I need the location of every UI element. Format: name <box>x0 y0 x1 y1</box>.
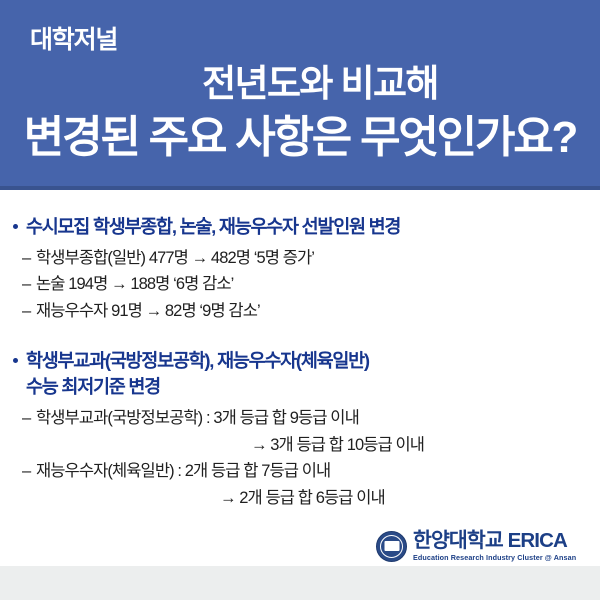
university-tagline: Education Research Industry Cluster @ An… <box>413 553 584 562</box>
list-item-text: 학생부종합(일반) 477명 → 482명 ‘5명 증가’ <box>36 249 314 267</box>
list-item: – 학생부종합(일반) 477명 → 482명 ‘5명 증가’ <box>0 245 600 272</box>
university-logo-text: 한양대학교 ERICA Education Research Industry … <box>413 530 584 563</box>
content-area: 수시모집 학생부종합, 논술, 재능우수자 선발인원 변경 – 학생부종합(일반… <box>0 190 600 566</box>
list-item-text: 논술 194명 → 188명 ‘6명 감소’ <box>36 275 233 293</box>
emblem-inner-shield-icon <box>384 541 399 551</box>
list-item: – 학생부교과(국방정보공학) : 3개 등급 합 9등급 이내 <box>0 405 600 432</box>
section-2-heading: 학생부교과(국방정보공학), 재능우수자(체육일반) <box>0 348 600 374</box>
list-item-continuation: → 3개 등급 합 10등급 이내 <box>0 432 600 459</box>
section-1-heading-text: 수시모집 학생부종합, 논술, 재능우수자 선발인원 변경 <box>26 216 400 237</box>
university-logo: 한양대학교 ERICA Education Research Industry … <box>376 528 584 564</box>
section-2-item-list: – 학생부교과(국방정보공학) : 3개 등급 합 9등급 이내 → 3개 등급… <box>0 405 600 512</box>
university-name: 한양대학교 ERICA <box>413 530 584 552</box>
list-item-text: 재능우수자(체육일반) : 2개 등급 합 7등급 이내 <box>36 462 330 480</box>
dash-marker-icon: – <box>22 298 30 325</box>
headline-line-1: 전년도와 비교해 <box>0 63 600 106</box>
content-section-2: 학생부교과(국방정보공학), 재능우수자(체육일반) 수능 최저기준 변경 – … <box>0 348 600 512</box>
bullet-dot-icon <box>13 358 18 363</box>
list-item-text: 재능우수자 91명 → 82명 ‘9명 감소’ <box>36 302 260 320</box>
section-1-item-list: – 학생부종합(일반) 477명 → 482명 ‘5명 증가’ – 논술 194… <box>0 245 600 325</box>
dash-marker-icon: – <box>22 405 30 432</box>
headline-line-2: 변경된 주요 사항은 무엇인가요? <box>0 113 600 164</box>
list-item: – 재능우수자(체육일반) : 2개 등급 합 7등급 이내 <box>0 458 600 485</box>
dash-marker-icon: – <box>22 271 30 298</box>
infographic-card: 대학저널 전년도와 비교해 변경된 주요 사항은 무엇인가요? 수시모집 학생부… <box>0 0 600 600</box>
section-1-heading: 수시모집 학생부종합, 논술, 재능우수자 선발인원 변경 <box>0 214 600 240</box>
header-banner: 대학저널 전년도와 비교해 변경된 주요 사항은 무엇인가요? <box>0 0 600 186</box>
list-item: – 논술 194명 → 188명 ‘6명 감소’ <box>0 271 600 298</box>
dash-marker-icon: – <box>22 458 30 485</box>
dash-marker-icon: – <box>22 245 30 272</box>
hanyang-university-emblem-icon <box>376 531 407 562</box>
list-item-text: 학생부교과(국방정보공학) : 3개 등급 합 9등급 이내 <box>36 409 359 427</box>
section-2-heading-text-line-2: 수능 최저기준 변경 <box>0 374 600 400</box>
content-section-1: 수시모집 학생부종합, 논술, 재능우수자 선발인원 변경 – 학생부종합(일반… <box>0 214 600 325</box>
bullet-dot-icon <box>13 224 18 229</box>
footer-band <box>0 566 600 600</box>
publisher-brand-logo: 대학저널 <box>30 28 117 53</box>
section-2-heading-text-line-1: 학생부교과(국방정보공학), 재능우수자(체육일반) <box>26 350 369 371</box>
list-item: – 재능우수자 91명 → 82명 ‘9명 감소’ <box>0 298 600 325</box>
list-item-continuation: → 2개 등급 합 6등급 이내 <box>0 485 600 512</box>
